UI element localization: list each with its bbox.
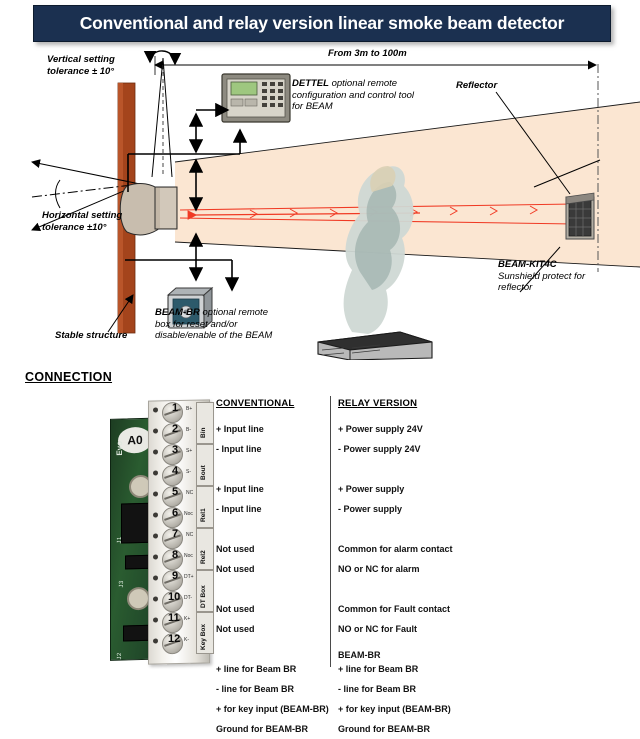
terminal-number-3: 3 bbox=[172, 444, 178, 456]
terminal-dot bbox=[153, 617, 158, 622]
terminal-mini-8: Noc bbox=[184, 553, 193, 559]
beam-cone bbox=[175, 102, 640, 267]
conv-row-10: - line for Beam BR bbox=[216, 679, 328, 699]
terminal-dot bbox=[153, 638, 158, 643]
group-label-dtbox: DT Box bbox=[200, 585, 207, 608]
terminal-number-4: 4 bbox=[172, 465, 178, 477]
label-reflector: Reflector bbox=[456, 80, 536, 92]
conv-row-2: - Input line bbox=[216, 439, 328, 459]
conv-row-spacer bbox=[216, 579, 328, 599]
terminal-number-6: 6 bbox=[172, 507, 178, 519]
terminal-mini-10: DT- bbox=[184, 595, 192, 601]
terminal-number-10: 10 bbox=[168, 591, 180, 603]
relay-row-5: Common for alarm contact bbox=[338, 539, 488, 559]
terminal-mini-3: S+ bbox=[186, 448, 192, 454]
terminal-mini-2: B- bbox=[186, 427, 191, 433]
relay-row-12: Ground for BEAM-BR bbox=[338, 719, 488, 739]
terminal-number-2: 2 bbox=[172, 423, 178, 435]
silk-j1: J1 bbox=[117, 536, 123, 544]
mounting-hole bbox=[127, 587, 150, 611]
page-title: Conventional and relay version linear sm… bbox=[80, 13, 565, 34]
group-label-bout: Bout bbox=[200, 465, 207, 480]
terminal-mini-11: K+ bbox=[184, 616, 190, 622]
relay-row-11: + for key input (BEAM-BR) bbox=[338, 699, 488, 719]
relay-row-1: + Power supply 24V bbox=[338, 419, 488, 439]
relay-row-10: - line for Beam BR bbox=[338, 679, 488, 699]
terminal-dot bbox=[153, 407, 158, 412]
terminal-dot bbox=[153, 449, 158, 454]
terminal-dot bbox=[153, 596, 158, 601]
connection-heading: CONNECTION bbox=[25, 370, 112, 384]
relay-row-9: + line for Beam BR bbox=[338, 659, 488, 679]
conv-row-9: + line for Beam BR bbox=[216, 659, 328, 679]
terminal-number-12: 12 bbox=[168, 633, 180, 645]
relay-row-3: + Power supply bbox=[338, 479, 488, 499]
terminal-mini-1: B+ bbox=[186, 406, 192, 412]
column-relay-version: RELAY VERSION + Power supply 24V - Power… bbox=[338, 398, 488, 739]
conv-row-11: + for key input (BEAM-BR) bbox=[216, 699, 328, 719]
label-dettel-strong: DETTEL bbox=[292, 78, 329, 89]
label-vertical-tolerance: Vertical setting tolerance ± 10° bbox=[47, 54, 157, 77]
relay-row-6: NO or NC for alarm bbox=[338, 559, 488, 579]
terminal-dot bbox=[153, 470, 158, 475]
page-title-bar: Conventional and relay version linear sm… bbox=[33, 5, 611, 42]
relay-row-clipped: BEAM-BR bbox=[338, 650, 381, 659]
terminal-mini-4: S- bbox=[186, 469, 191, 475]
silk-j3: J3 bbox=[119, 580, 125, 588]
label-kit4c-rest: Sunshield protect for reflector bbox=[498, 271, 585, 294]
label-distance-range: From 3m to 100m bbox=[328, 48, 458, 60]
burning-pallet bbox=[318, 332, 432, 360]
installation-diagram: Vertical setting tolerance ± 10° Horizon… bbox=[0, 42, 640, 360]
conv-row-1: + Input line bbox=[216, 419, 328, 439]
terminal-mini-9: DT+ bbox=[184, 574, 194, 580]
terminal-mini-6: Noc bbox=[184, 511, 193, 517]
conv-row-8: Not used bbox=[216, 619, 328, 639]
conv-row-spacer bbox=[216, 459, 328, 479]
reflector-panel bbox=[566, 193, 594, 239]
terminal-number-7: 7 bbox=[172, 528, 178, 540]
label-kit4c-strong: BEAM-KIT4C bbox=[498, 259, 557, 270]
relay-row-2: - Power supply 24V bbox=[338, 439, 488, 459]
label-horizontal-tolerance: Horizontal setting tolerance ±10° bbox=[42, 210, 132, 233]
silk-j2: J2 bbox=[117, 652, 123, 660]
conv-row-5: Not used bbox=[216, 539, 328, 559]
terminal-number-9: 9 bbox=[172, 570, 178, 582]
column-header-relay: RELAY VERSION bbox=[338, 398, 488, 409]
group-label-rel2: Rel2 bbox=[200, 550, 207, 564]
dettel-panel bbox=[222, 74, 290, 122]
relay-row-7: Common for Fault contact bbox=[338, 599, 488, 619]
label-beam-br-strong: BEAM-BR bbox=[155, 307, 200, 318]
terminal-number-1: 1 bbox=[172, 402, 178, 414]
terminal-dot bbox=[153, 575, 158, 580]
terminal-mini-5: NC bbox=[186, 490, 193, 496]
terminal-dot bbox=[153, 428, 158, 433]
conv-row-7: Not used bbox=[216, 599, 328, 619]
group-label-keybox: Key Box bbox=[200, 624, 207, 650]
label-beam-br: BEAM-BR optional remote box for reset an… bbox=[155, 307, 275, 342]
group-label-rel1: Rel1 bbox=[200, 508, 207, 522]
terminal-block: A0 Evo J1 J3 J2 bbox=[110, 400, 222, 662]
terminal-dot bbox=[153, 533, 158, 538]
conv-row-3: + Input line bbox=[216, 479, 328, 499]
conv-row-4: - Input line bbox=[216, 499, 328, 519]
relay-row-8: NO or NC for Fault bbox=[338, 619, 488, 639]
relay-row-spacer bbox=[338, 579, 488, 599]
label-beam-kit4c: BEAM-KIT4CSunshield protect for reflecto… bbox=[498, 259, 618, 294]
terminal-number-11: 11 bbox=[168, 612, 180, 624]
conv-row-12: Ground for BEAM-BR bbox=[216, 719, 328, 739]
column-header-conventional: CONVENTIONAL bbox=[216, 398, 328, 409]
column-conventional: CONVENTIONAL + Input line - Input line +… bbox=[216, 398, 328, 739]
label-dettel: DETTEL optional remote configuration and… bbox=[292, 78, 417, 113]
relay-row-spacer bbox=[338, 519, 488, 539]
terminal-mini-7: NC bbox=[186, 532, 193, 538]
conv-row-spacer bbox=[216, 639, 328, 659]
conv-row-spacer bbox=[216, 519, 328, 539]
pcb-sub-label: Evo bbox=[115, 441, 124, 456]
terminal-dot bbox=[153, 491, 158, 496]
conv-row-6: Not used bbox=[216, 559, 328, 579]
connection-area: A0 Evo J1 J3 J2 bbox=[0, 392, 640, 667]
relay-row-spacer bbox=[338, 459, 488, 479]
group-label-bin: Bin bbox=[200, 428, 207, 438]
relay-row-4: - Power supply bbox=[338, 499, 488, 519]
terminal-number-5: 5 bbox=[172, 486, 178, 498]
terminal-number-8: 8 bbox=[172, 549, 178, 561]
terminal-dot bbox=[153, 554, 158, 559]
column-divider bbox=[330, 396, 331, 667]
terminal-dot bbox=[153, 512, 158, 517]
label-stable-structure: Stable structure bbox=[55, 330, 165, 342]
terminal-mini-12: K- bbox=[184, 637, 189, 643]
